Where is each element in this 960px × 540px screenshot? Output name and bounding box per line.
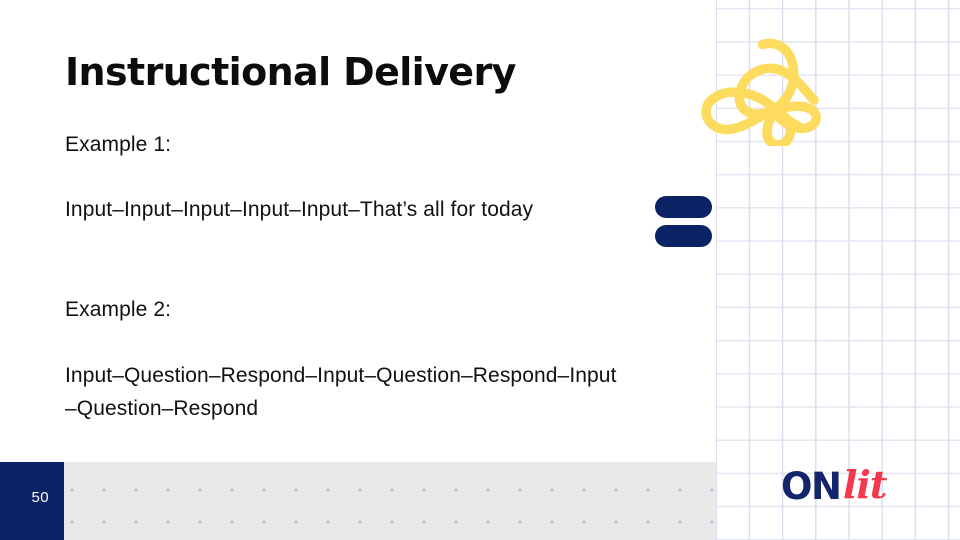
- example-1-body: Input–Input–Input–Input–Input–That’s all…: [65, 193, 621, 226]
- page-number-value: 50: [32, 490, 50, 505]
- example-2-label: Example 2:: [65, 293, 625, 326]
- example-1-label: Example 1:: [65, 128, 625, 161]
- example-2-body: Input–Question–Respond–Input–Question–Re…: [65, 359, 625, 425]
- squiggle-icon: [692, 22, 828, 146]
- brand-logo-on: ON: [781, 468, 840, 505]
- equals-mark-icon: [655, 196, 712, 247]
- equals-bar-top: [655, 196, 712, 218]
- brand-logo-lit: lit: [843, 466, 886, 504]
- equals-bar-bottom: [655, 225, 712, 247]
- page-title: Instructional Delivery: [65, 52, 516, 94]
- page-number-badge: 50: [0, 462, 64, 540]
- footer-band: [0, 462, 716, 540]
- slide-canvas: Instructional Delivery Example 1: Input–…: [0, 0, 960, 540]
- brand-logo: ON lit: [781, 466, 911, 514]
